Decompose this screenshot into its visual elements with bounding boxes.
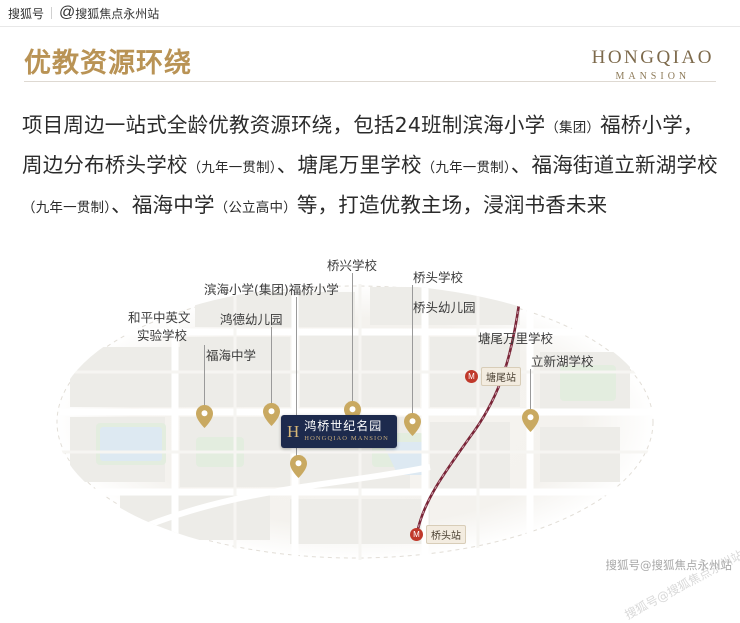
page-title: 优教资源环绕 [24, 41, 192, 80]
para-paren-5: （公立高中） [215, 200, 297, 216]
map-label-binhai-fuqiao-xiaoxue: 滨海小学(集团)福桥小学 [204, 279, 339, 298]
location-map: 和平中英文 实验学校 福海中学 鸿德幼儿园 滨海小学(集团)福桥小学 桥兴学校 … [0, 237, 740, 577]
account-name[interactable]: 搜狐焦点永州站 [75, 5, 159, 22]
para-seg-1: 项目周边一站式全龄优教资源环绕，包括24班制滨海小学 [22, 113, 545, 137]
page-header: 优教资源环绕 HONGQIAO MANSION [0, 27, 740, 93]
map-label-tangwei-wanli-xuexiao: 塘尾万里学校 [478, 328, 553, 347]
project-name-en: HONGQIAO MANSION [304, 434, 389, 443]
brand-name-line1: HONGQIAO [592, 47, 714, 69]
map-background [0, 237, 740, 577]
leader-line-qiaotou [412, 285, 413, 415]
map-label-lixinhu-xuexiao: 立新湖学校 [531, 351, 594, 370]
leader-line-hongde [271, 327, 272, 405]
brand-name-line2: MANSION [592, 71, 714, 82]
para-seg-3: 、塘尾万里学校 [277, 153, 422, 177]
map-label-qiaoxing-xuexiao: 桥兴学校 [327, 255, 377, 274]
project-badge[interactable]: H 鸿桥世纪名园 HONGQIAO MANSION [281, 415, 397, 448]
site-topbar: 搜狐号 @ 搜狐焦点永州站 [0, 0, 740, 27]
para-seg-6: 等，打造优教主场，浸润书香未来 [297, 193, 608, 217]
metro-icon: M [410, 528, 423, 541]
leader-line-hepingzhongyingwen [204, 345, 205, 407]
metro-station-label: 桥头站 [426, 525, 466, 544]
map-label-hongde-youeryuan: 鸿德幼儿园 [220, 309, 283, 328]
para-paren-1: （集团） [545, 120, 600, 136]
at-symbol: @ [59, 4, 75, 22]
map-pin-south-1[interactable] [290, 455, 307, 478]
leader-line-qiaoxing [352, 273, 353, 403]
para-paren-4: （九年一贯制） [22, 200, 111, 216]
metro-station-tangwei[interactable]: M 塘尾站 [465, 367, 521, 386]
project-monogram: H [287, 423, 299, 440]
leader-line-lixinhu [530, 369, 531, 411]
map-pin-hongde-youeryuan[interactable] [263, 403, 280, 426]
para-paren-3: （九年一贯制） [422, 160, 511, 176]
map-label-qiaotou-youeryuan: 桥头幼儿园 [413, 297, 476, 316]
map-label-fuhai-zhongxue: 福海中学 [206, 345, 256, 364]
map-label-hepingzhongyingwen-1: 和平中英文 [128, 307, 191, 326]
brand-logo: HONGQIAO MANSION [592, 47, 714, 82]
para-seg-5: 、福海中学 [111, 193, 215, 217]
project-name-cn: 鸿桥世纪名园 [304, 420, 389, 432]
metro-icon: M [465, 370, 478, 383]
watermark-bottom-right: 搜狐号@搜狐焦点永州站 [606, 557, 733, 573]
metro-station-qiaotou[interactable]: M 桥头站 [410, 525, 466, 544]
para-paren-2: （九年一贯制） [188, 160, 277, 176]
topbar-divider [51, 7, 52, 19]
para-seg-4: 、福海街道立新湖学校 [511, 153, 718, 177]
metro-station-label: 塘尾站 [481, 367, 521, 386]
map-label-qiaotou-xuexiao: 桥头学校 [413, 267, 463, 286]
body-paragraph: 项目周边一站式全龄优教资源环绕，包括24班制滨海小学（集团）福桥小学，周边分布桥… [0, 93, 740, 227]
map-label-hepingzhongyingwen-2: 实验学校 [137, 325, 187, 344]
sohu-logo[interactable]: 搜狐号 [8, 5, 44, 22]
map-pin-lixinhu-xuexiao[interactable] [522, 409, 539, 432]
map-pin-hepingzhongyingwen[interactable] [196, 405, 213, 428]
map-pin-qiaotou-xuexiao[interactable] [404, 413, 421, 436]
